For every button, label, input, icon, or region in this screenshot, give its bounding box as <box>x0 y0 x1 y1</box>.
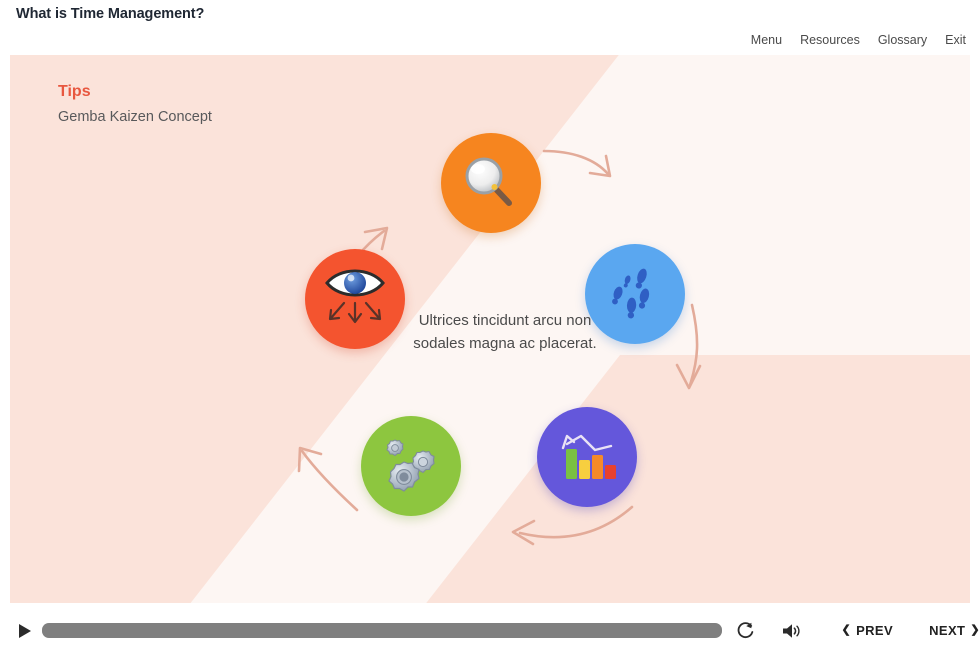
prev-button[interactable]: ❮ PREV <box>841 623 893 638</box>
chevron-right-icon: ❯ <box>970 625 980 636</box>
next-label: NEXT <box>929 623 965 638</box>
nav-item-menu[interactable]: Menu <box>751 33 782 47</box>
magnifier-icon <box>459 151 523 215</box>
page-title: What is Time Management? <box>16 6 204 22</box>
bar-chart-icon <box>555 427 619 487</box>
top-navigation: Menu Resources Glossary Exit <box>751 33 966 47</box>
nav-item-exit[interactable]: Exit <box>945 33 966 47</box>
node-eye[interactable] <box>305 249 405 349</box>
next-button[interactable]: NEXT ❯ <box>929 623 980 638</box>
player-control-bar: ❮ PREV NEXT ❯ <box>0 603 980 658</box>
node-magnifying-glass[interactable] <box>441 133 541 233</box>
top-bar: What is Time Management? Menu Resources … <box>0 0 980 55</box>
slide-stage: Tips Gemba Kaizen Concept Ultrices tinci… <box>10 55 970 603</box>
progress-bar[interactable] <box>42 623 722 638</box>
center-description: Ultrices tincidunt arcu non sodales magn… <box>410 310 600 355</box>
nav-item-resources[interactable]: Resources <box>800 33 860 47</box>
course-player: What is Time Management? Menu Resources … <box>0 0 980 658</box>
prev-label: PREV <box>856 623 893 638</box>
node-bar-chart[interactable] <box>537 407 637 507</box>
play-button[interactable] <box>18 621 32 641</box>
chevron-left-icon: ❮ <box>841 625 851 636</box>
tips-heading-block: Tips Gemba Kaizen Concept <box>58 83 212 125</box>
replay-button[interactable] <box>736 621 755 641</box>
node-footsteps[interactable] <box>585 244 685 344</box>
eye-icon <box>318 263 392 335</box>
nav-item-glossary[interactable]: Glossary <box>878 33 927 47</box>
replay-icon <box>736 621 755 640</box>
volume-button[interactable] <box>781 621 801 641</box>
play-icon <box>18 623 32 639</box>
volume-icon <box>781 622 801 640</box>
slide-subtitle: Gemba Kaizen Concept <box>58 109 212 125</box>
node-gears[interactable] <box>361 416 461 516</box>
gears-icon <box>379 434 443 498</box>
progress-fill <box>42 623 722 638</box>
tips-label: Tips <box>58 83 212 101</box>
footprints-icon <box>604 263 666 325</box>
